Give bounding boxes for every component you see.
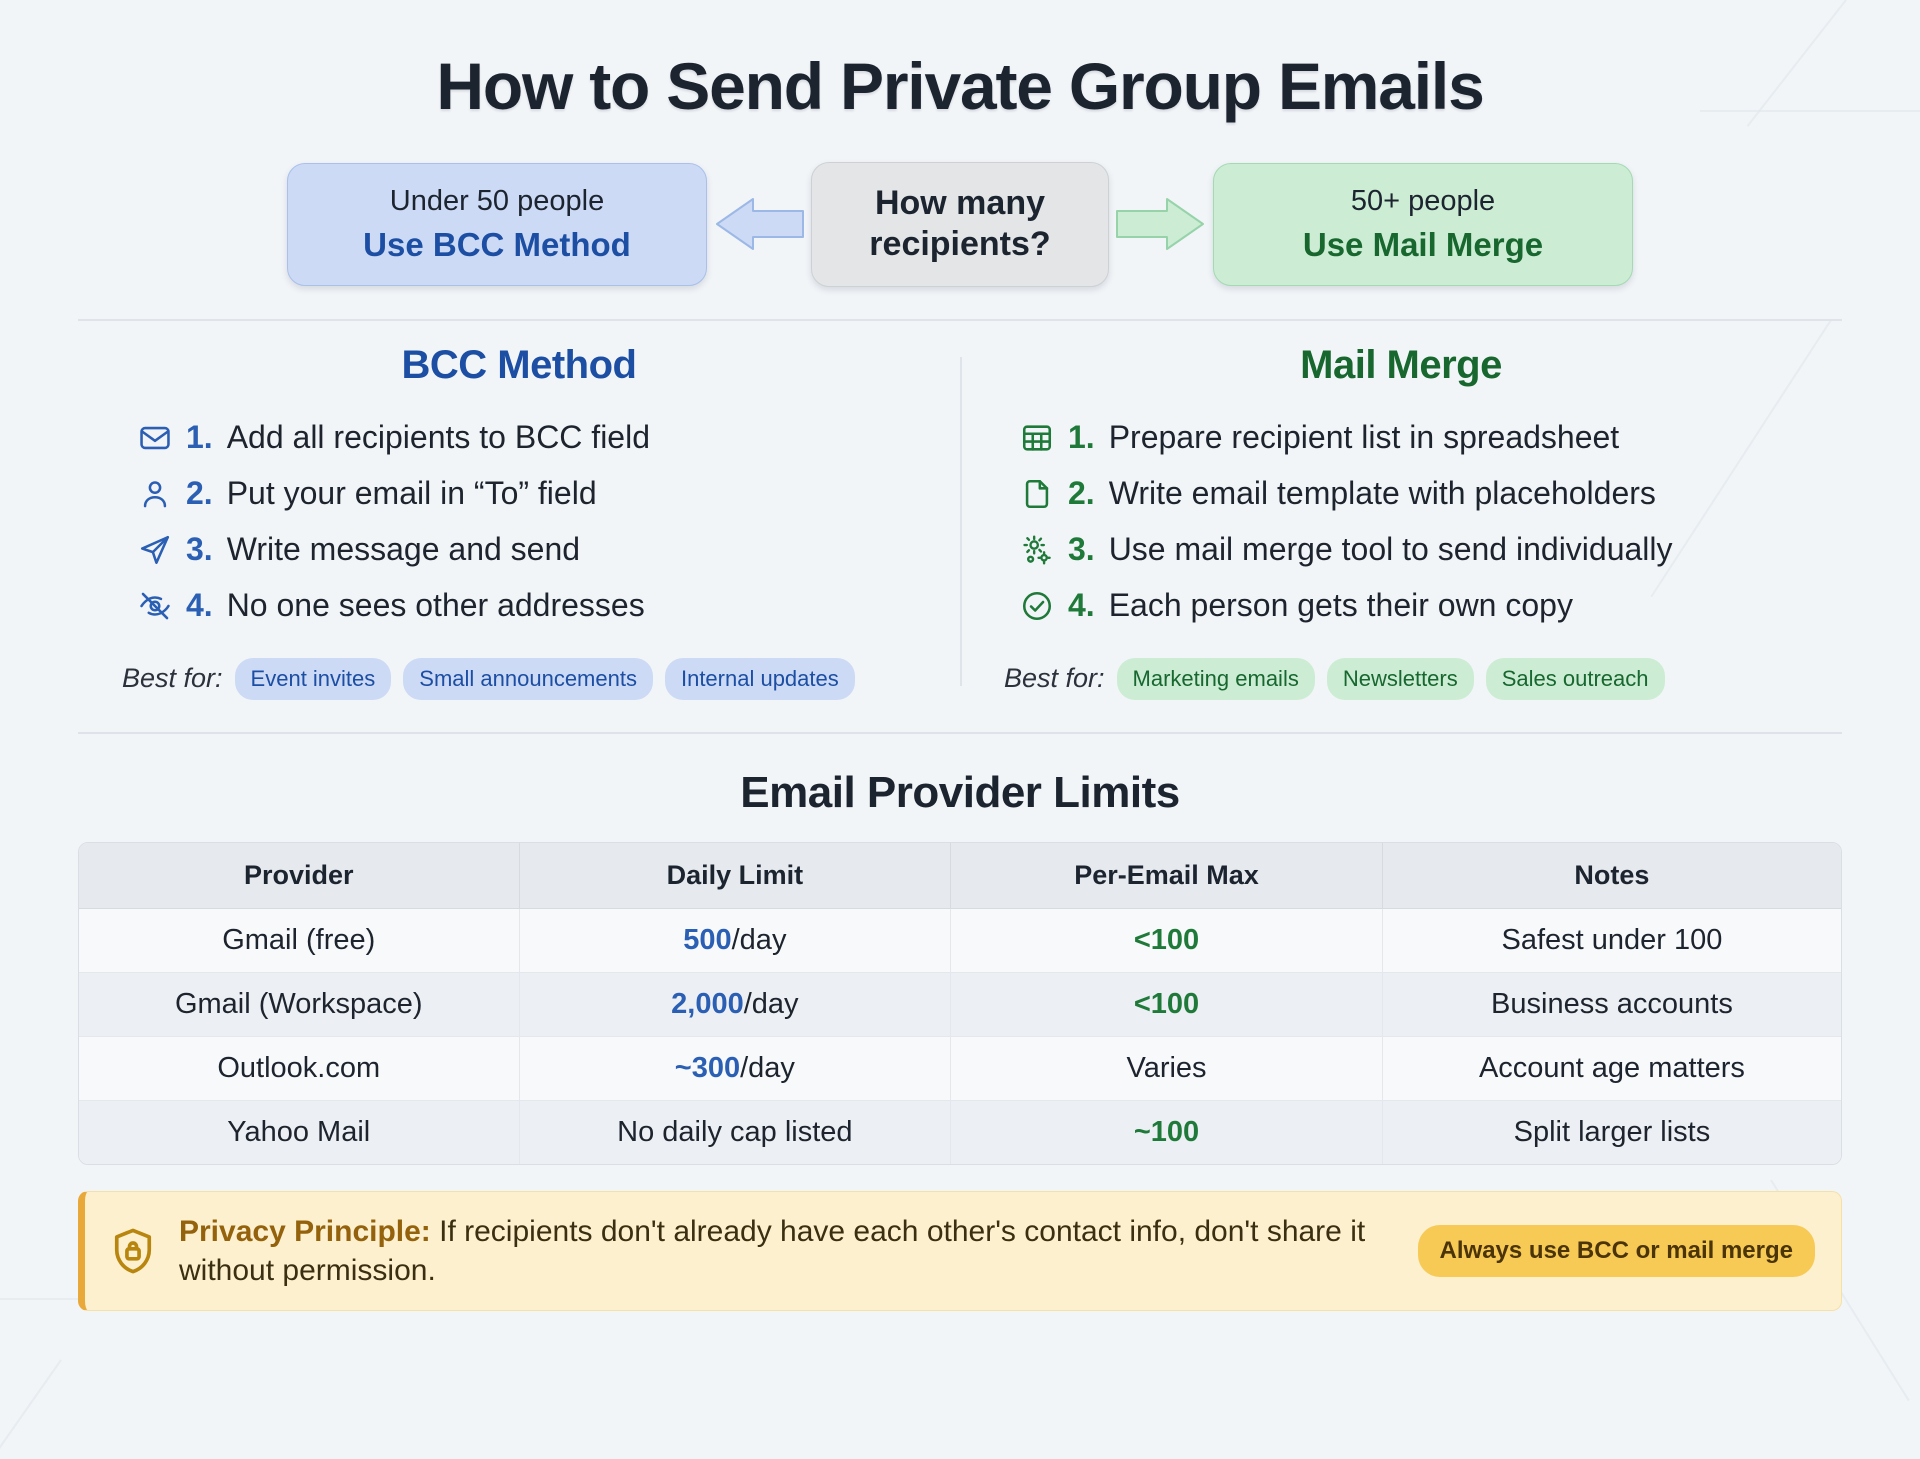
shield-lock-icon bbox=[107, 1225, 159, 1277]
person-icon bbox=[138, 477, 172, 511]
mailmerge-tag-1: Marketing emails bbox=[1117, 658, 1315, 700]
bcc-step-2-num: 2. bbox=[186, 475, 213, 512]
privacy-principle-lead: Privacy Principle: bbox=[179, 1215, 431, 1248]
cell-per-email-max: Varies bbox=[951, 1037, 1383, 1101]
mailmerge-step-3-num: 3. bbox=[1068, 531, 1095, 568]
decision-box-question: How many recipients? bbox=[811, 162, 1109, 287]
cell-daily-limit: No daily cap listed bbox=[520, 1101, 952, 1164]
bcc-best-for: Best for: Event invites Small announceme… bbox=[100, 658, 938, 700]
bcc-step-4-num: 4. bbox=[186, 587, 213, 624]
bcc-step-2: 2. Put your email in “To” field bbox=[138, 466, 938, 522]
mailmerge-tag-3: Sales outreach bbox=[1486, 658, 1665, 700]
bcc-step-1: 1. Add all recipients to BCC field bbox=[138, 410, 938, 466]
daily-value: 500 bbox=[683, 924, 731, 956]
cell-daily-limit: 2,000/day bbox=[520, 973, 952, 1037]
check-circle-icon bbox=[1020, 589, 1054, 623]
envelope-icon bbox=[138, 421, 172, 455]
cell-provider: Yahoo Mail bbox=[79, 1101, 520, 1164]
bcc-best-for-label: Best for: bbox=[122, 663, 223, 694]
decision-bcc-action: Use BCC Method bbox=[314, 225, 680, 265]
table-header-daily-limit: Daily Limit bbox=[520, 843, 952, 909]
daily-value: 2,000 bbox=[671, 988, 744, 1020]
decision-bcc-condition: Under 50 people bbox=[314, 184, 680, 219]
divider-bottom bbox=[78, 732, 1842, 734]
cell-notes: Safest under 100 bbox=[1383, 909, 1841, 973]
cell-daily-limit: ~300/day bbox=[520, 1037, 952, 1101]
table-header-notes: Notes bbox=[1383, 843, 1841, 909]
mailmerge-step-4-text: Each person gets their own copy bbox=[1109, 587, 1573, 624]
mailmerge-step-1-num: 1. bbox=[1068, 419, 1095, 456]
daily-suffix: /day bbox=[740, 1052, 795, 1084]
table-row: Gmail (free) 500/day <100 Safest under 1… bbox=[79, 909, 1841, 973]
privacy-badge: Always use BCC or mail merge bbox=[1418, 1225, 1815, 1277]
provider-limits-table: Provider Daily Limit Per-Email Max Notes… bbox=[78, 842, 1842, 1165]
divider-top bbox=[78, 319, 1842, 321]
infographic-page: How to Send Private Group Emails Under 5… bbox=[0, 0, 1920, 1434]
decision-box-mailmerge: 50+ people Use Mail Merge bbox=[1213, 163, 1633, 287]
arrow-right-icon bbox=[1109, 189, 1213, 259]
spreadsheet-icon bbox=[1020, 421, 1054, 455]
vertical-divider bbox=[960, 357, 962, 686]
methods-section: BCC Method 1. Add all recipients to BCC … bbox=[78, 343, 1842, 700]
bcc-step-2-text: Put your email in “To” field bbox=[227, 475, 597, 512]
bcc-heading: BCC Method bbox=[100, 343, 938, 388]
table-row: Outlook.com ~300/day Varies Account age … bbox=[79, 1037, 1841, 1101]
arrow-left-icon bbox=[707, 189, 811, 259]
decision-flow: Under 50 people Use BCC Method How many … bbox=[78, 162, 1842, 287]
cell-provider: Outlook.com bbox=[79, 1037, 520, 1101]
bcc-step-4: 4. No one sees other addresses bbox=[138, 578, 938, 634]
mailmerge-tag-2: Newsletters bbox=[1327, 658, 1474, 700]
daily-value: ~300 bbox=[675, 1052, 740, 1084]
bcc-tag-2: Small announcements bbox=[403, 658, 653, 700]
cell-daily-limit: 500/day bbox=[520, 909, 952, 973]
privacy-principle-text: Privacy Principle: If recipients don't a… bbox=[179, 1212, 1398, 1290]
decision-question-line1: How many bbox=[838, 183, 1082, 224]
mailmerge-best-for-label: Best for: bbox=[1004, 663, 1105, 694]
paper-plane-icon bbox=[138, 533, 172, 567]
table-header-row: Provider Daily Limit Per-Email Max Notes bbox=[79, 843, 1841, 909]
table-row: Yahoo Mail No daily cap listed ~100 Spli… bbox=[79, 1101, 1841, 1164]
cell-per-email-max: <100 bbox=[951, 973, 1383, 1037]
decision-question-line2: recipients? bbox=[838, 224, 1082, 265]
bcc-tag-1: Event invites bbox=[235, 658, 392, 700]
bcc-step-4-text: No one sees other addresses bbox=[227, 587, 645, 624]
document-icon bbox=[1020, 477, 1054, 511]
eye-off-icon bbox=[138, 589, 172, 623]
bcc-step-3-num: 3. bbox=[186, 531, 213, 568]
mailmerge-step-4: 4. Each person gets their own copy bbox=[1020, 578, 1820, 634]
cell-provider: Gmail (Workspace) bbox=[79, 973, 520, 1037]
bcc-steps: 1. Add all recipients to BCC field 2. Pu… bbox=[100, 410, 938, 634]
daily-suffix: /day bbox=[744, 988, 799, 1020]
gears-icon bbox=[1020, 533, 1054, 567]
mailmerge-step-2-text: Write email template with placeholders bbox=[1109, 475, 1656, 512]
decision-mm-condition: 50+ people bbox=[1240, 184, 1606, 219]
bcc-step-3-text: Write message and send bbox=[227, 531, 580, 568]
privacy-principle-banner: Privacy Principle: If recipients don't a… bbox=[78, 1191, 1842, 1311]
cell-notes: Account age matters bbox=[1383, 1037, 1841, 1101]
mailmerge-step-2-num: 2. bbox=[1068, 475, 1095, 512]
mailmerge-step-1: 1. Prepare recipient list in spreadsheet bbox=[1020, 410, 1820, 466]
bcc-step-1-num: 1. bbox=[186, 419, 213, 456]
mailmerge-best-for: Best for: Marketing emails Newsletters S… bbox=[982, 658, 1820, 700]
daily-suffix: No daily cap listed bbox=[617, 1116, 852, 1148]
mailmerge-step-3-text: Use mail merge tool to send individually bbox=[1109, 531, 1673, 568]
daily-suffix: /day bbox=[732, 924, 787, 956]
cell-provider: Gmail (free) bbox=[79, 909, 520, 973]
page-title: How to Send Private Group Emails bbox=[78, 0, 1842, 124]
table-row: Gmail (Workspace) 2,000/day <100 Busines… bbox=[79, 973, 1841, 1037]
bcc-step-3: 3. Write message and send bbox=[138, 522, 938, 578]
column-bcc: BCC Method 1. Add all recipients to BCC … bbox=[78, 343, 960, 700]
mailmerge-step-3: 3. Use mail merge tool to send individua… bbox=[1020, 522, 1820, 578]
decision-box-bcc: Under 50 people Use BCC Method bbox=[287, 163, 707, 287]
mailmerge-steps: 1. Prepare recipient list in spreadsheet… bbox=[982, 410, 1820, 634]
mailmerge-step-1-text: Prepare recipient list in spreadsheet bbox=[1109, 419, 1620, 456]
cell-per-email-max: <100 bbox=[951, 909, 1383, 973]
table-title: Email Provider Limits bbox=[78, 768, 1842, 818]
table-header-provider: Provider bbox=[79, 843, 520, 909]
cell-notes: Business accounts bbox=[1383, 973, 1841, 1037]
bcc-step-1-text: Add all recipients to BCC field bbox=[227, 419, 650, 456]
table-header-per-email-max: Per-Email Max bbox=[951, 843, 1383, 909]
cell-notes: Split larger lists bbox=[1383, 1101, 1841, 1164]
bcc-tag-3: Internal updates bbox=[665, 658, 855, 700]
decision-mm-action: Use Mail Merge bbox=[1240, 225, 1606, 265]
mailmerge-step-4-num: 4. bbox=[1068, 587, 1095, 624]
mailmerge-step-2: 2. Write email template with placeholder… bbox=[1020, 466, 1820, 522]
column-mailmerge: Mail Merge 1. Prepare recipient list in … bbox=[960, 343, 1842, 700]
cell-per-email-max: ~100 bbox=[951, 1101, 1383, 1164]
mailmerge-heading: Mail Merge bbox=[982, 343, 1820, 388]
